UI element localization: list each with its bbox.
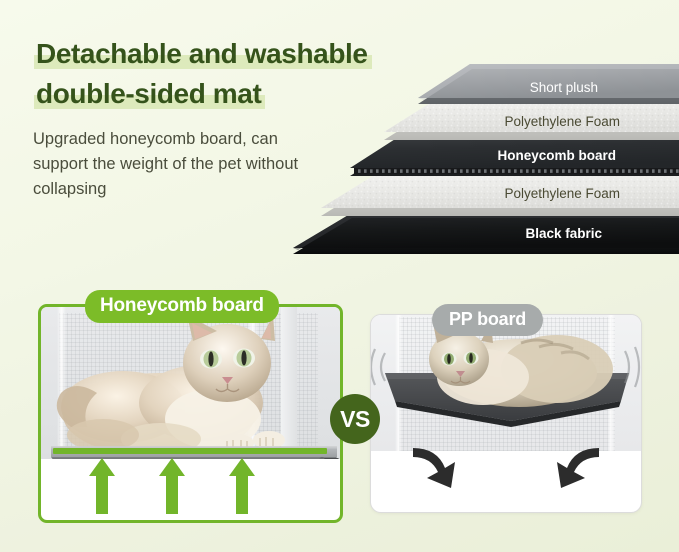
vs-badge: VS	[330, 394, 380, 444]
honeycomb-cell-edge	[354, 168, 679, 174]
layer-label-foam-upper: Polyethylene Foam	[504, 114, 620, 129]
support-bar	[53, 448, 327, 454]
comparison-panel-honeycomb	[38, 304, 343, 523]
up-arrow-icon-3	[229, 458, 255, 514]
cat-illustration-good	[41, 307, 340, 459]
headline-line-2-text: double-sided mat	[36, 78, 261, 109]
down-arrow-icon-left	[411, 444, 463, 490]
layer-stack-diagram: Short plush Polyethylene Foam Honeycomb …	[288, 58, 679, 263]
headline-line-1: Detachable and washable	[36, 34, 368, 74]
honeycomb-photo	[41, 307, 340, 459]
headline-line-1-text: Detachable and washable	[36, 38, 368, 69]
layer-label-short-plush: Short plush	[530, 80, 598, 95]
layer-label-black-fabric: Black fabric	[525, 226, 602, 241]
up-arrow-icon-1	[89, 458, 115, 514]
hero-section: Detachable and washable double-sided mat…	[0, 0, 679, 272]
layer-stack-svg	[288, 58, 679, 263]
headline-line-2: double-sided mat	[36, 74, 261, 114]
badge-pp-board: PP board	[432, 304, 543, 336]
layer-label-foam-lower: Polyethylene Foam	[504, 186, 620, 201]
comparison-panel-pp-board	[370, 314, 642, 513]
layer-foam-lower	[321, 174, 679, 216]
badge-honeycomb-board: Honeycomb board	[85, 290, 279, 323]
infographic-root: Detachable and washable double-sided mat…	[0, 0, 679, 552]
up-arrow-icon-2	[159, 458, 185, 514]
down-arrow-icon-right	[549, 444, 601, 490]
layer-black-fabric	[293, 214, 679, 254]
layer-label-honeycomb-board: Honeycomb board	[497, 148, 616, 163]
